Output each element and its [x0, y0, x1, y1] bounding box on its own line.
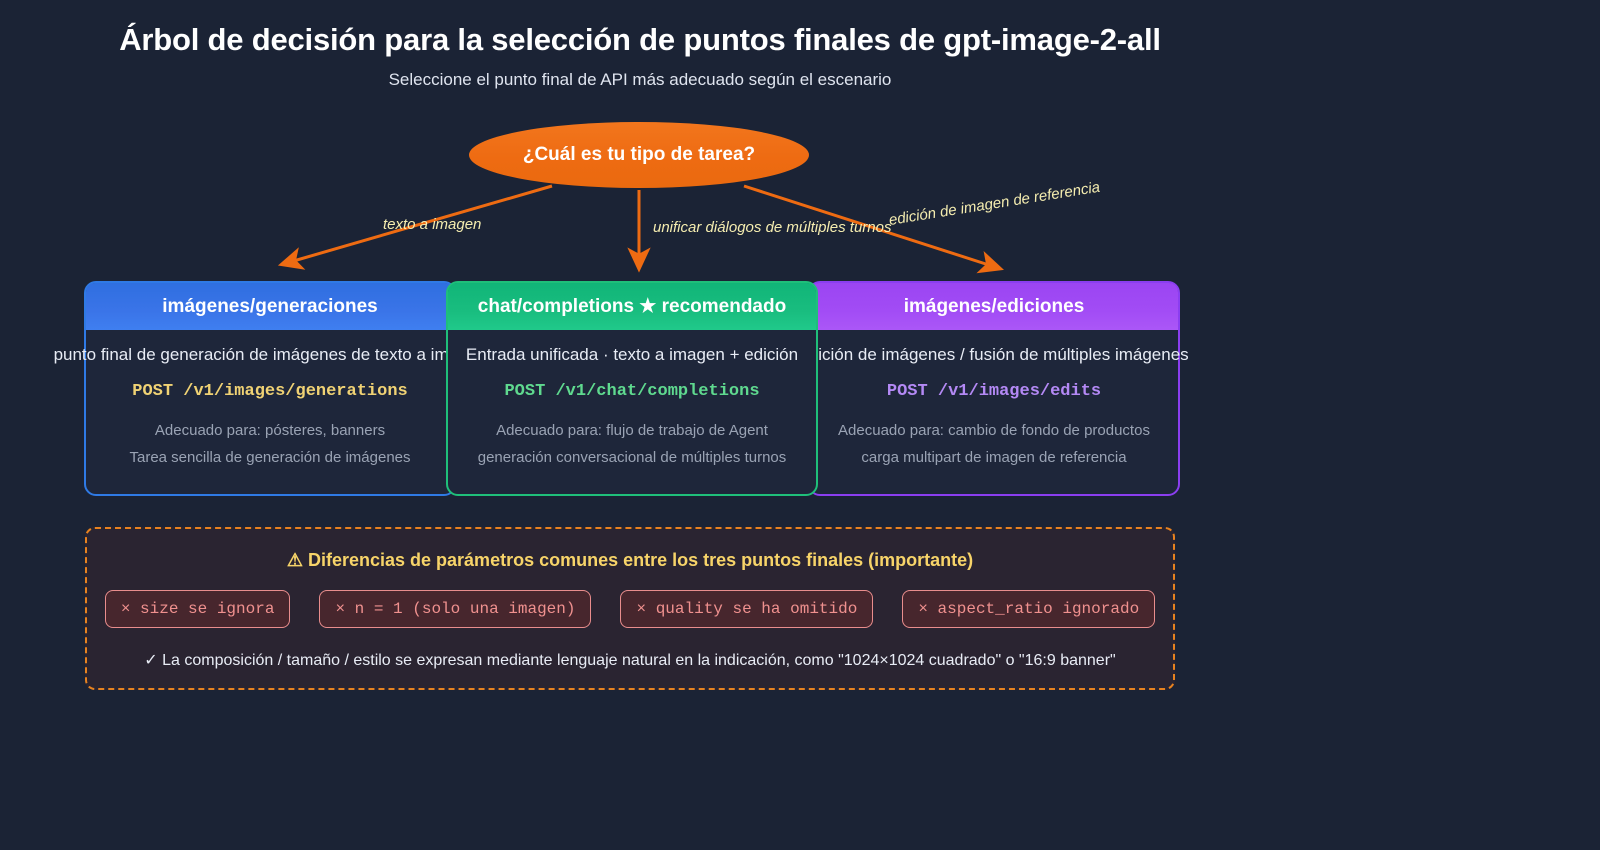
card-title: imágenes/ediciones — [904, 296, 1085, 318]
card-description: punto final de generación de imágenes de… — [54, 345, 487, 365]
card-title: chat/completions ★ recomendado — [478, 295, 786, 318]
card-note: generación conversacional de múltiples t… — [478, 449, 787, 466]
edge-label-texto-a-imagen: texto a imagen — [383, 216, 481, 233]
endpoint-card-images-generations[interactable]: imágenes/generaciones punto final de gen… — [84, 281, 456, 496]
card-header: chat/completions ★ recomendado — [448, 283, 816, 330]
diagram-canvas: Árbol de decisión para la selección de p… — [0, 0, 1600, 850]
page-subtitle: Seleccione el punto final de API más ade… — [0, 70, 1280, 90]
warning-chip-aspect-ratio: × aspect_ratio ignorado — [902, 590, 1155, 628]
root-node-label: ¿Cuál es tu tipo de tarea? — [523, 144, 755, 166]
card-description: Entrada unificada · texto a imagen + edi… — [466, 345, 798, 365]
card-body: Entrada unificada · texto a imagen + edi… — [448, 330, 816, 494]
card-note: carga multipart de imagen de referencia — [861, 449, 1126, 466]
endpoint-card-chat-completions[interactable]: chat/completions ★ recomendado Entrada u… — [446, 281, 818, 496]
warning-chip-row: × size se ignora × n = 1 (solo una image… — [87, 590, 1173, 628]
edge-label-unificar-dialogos: unificar diálogos de múltiples turnos — [653, 219, 891, 236]
card-body: punto final de generación de imágenes de… — [86, 330, 454, 494]
card-body: edición de imágenes / fusión de múltiple… — [810, 330, 1178, 494]
endpoint-card-images-edits[interactable]: imágenes/ediciones edición de imágenes /… — [808, 281, 1180, 496]
card-endpoint: POST /v1/images/edits — [887, 382, 1101, 401]
card-description: edición de imágenes / fusión de múltiple… — [799, 345, 1188, 365]
card-note: Adecuado para: cambio de fondo de produc… — [838, 422, 1150, 439]
warning-chip-size: × size se ignora — [105, 590, 291, 628]
card-endpoint: POST /v1/images/generations — [132, 382, 407, 401]
warning-footer: ✓ La composición / tamaño / estilo se ex… — [87, 650, 1173, 670]
card-note: Adecuado para: flujo de trabajo de Agent — [496, 422, 768, 439]
card-note: Adecuado para: pósteres, banners — [155, 422, 385, 439]
root-decision-node[interactable]: ¿Cuál es tu tipo de tarea? — [469, 122, 809, 188]
card-note: Tarea sencilla de generación de imágenes — [129, 449, 410, 466]
card-endpoint: POST /v1/chat/completions — [504, 382, 759, 401]
warning-chip-quality: × quality se ha omitido — [620, 590, 873, 628]
card-header: imágenes/ediciones — [810, 283, 1178, 330]
warning-chip-n: × n = 1 (solo una imagen) — [319, 590, 591, 628]
warning-title: ⚠ Diferencias de parámetros comunes entr… — [87, 550, 1173, 571]
card-title: imágenes/generaciones — [162, 296, 377, 318]
page-title: Árbol de decisión para la selección de p… — [0, 22, 1280, 58]
card-header: imágenes/generaciones — [86, 283, 454, 330]
edge-label-edicion-referencia: edición de imagen de referencia — [888, 179, 1102, 229]
warning-panel: ⚠ Diferencias de parámetros comunes entr… — [85, 527, 1175, 690]
